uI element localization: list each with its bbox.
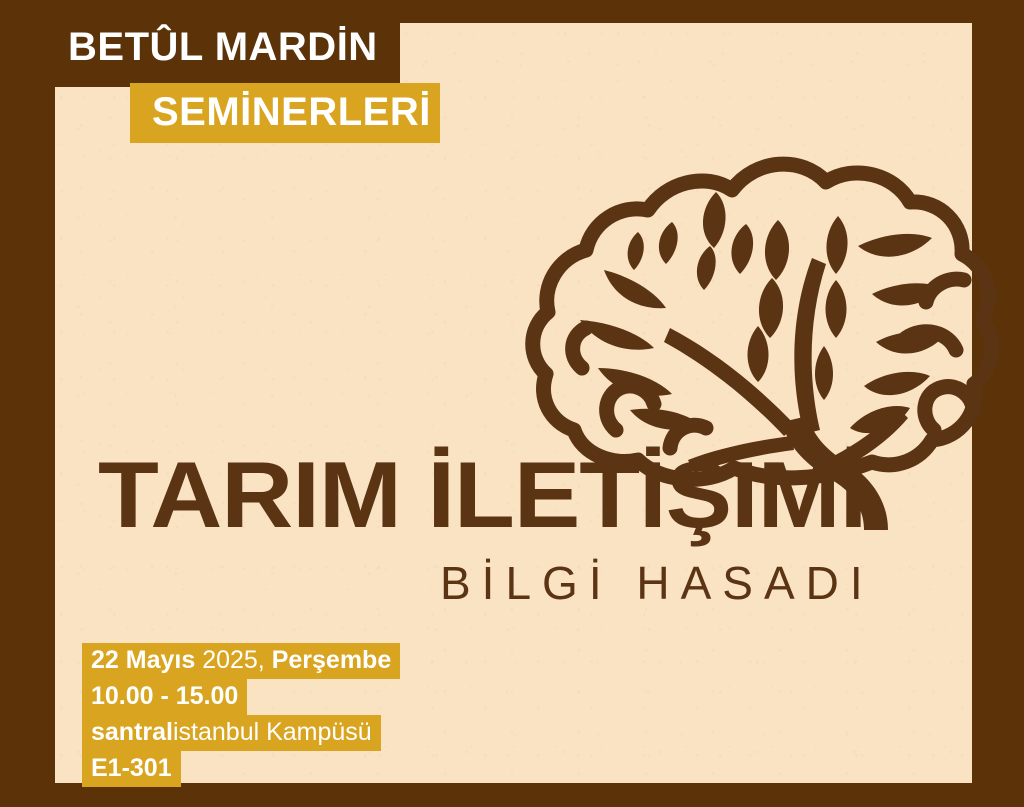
event-room: E1-301	[91, 754, 172, 782]
event-campus-line: santralistanbul Kampüsü	[82, 715, 381, 751]
event-time-line: 10.00 - 15.00	[82, 679, 247, 715]
poster: BETÛL MARDİN SEMİNERLERİ	[0, 0, 1024, 807]
campus-brand: santral	[91, 718, 173, 746]
campus-name: istanbul Kampüsü	[173, 718, 372, 746]
event-date: 22 Mayıs	[91, 646, 195, 674]
page-subtitle: BİLGİ HASADI	[440, 560, 874, 606]
event-details: 22 Mayıs 2025, Perşembe 10.00 - 15.00 sa…	[82, 643, 400, 787]
page-title: TARIM İLETİŞİMİ	[98, 448, 866, 542]
cream-panel-top	[400, 23, 972, 93]
speaker-name-kicker: BETÛL MARDİN	[68, 27, 378, 67]
event-date-line: 22 Mayıs 2025, Perşembe	[82, 643, 400, 679]
event-weekday: Perşembe	[272, 646, 392, 674]
paper-grain-texture	[400, 23, 972, 93]
event-room-line: E1-301	[82, 751, 181, 787]
event-time: 10.00 - 15.00	[91, 682, 238, 710]
seminar-series-band: SEMİNERLERİ	[130, 83, 440, 143]
event-year: 2025,	[195, 646, 271, 674]
seminar-series-label: SEMİNERLERİ	[152, 92, 431, 132]
